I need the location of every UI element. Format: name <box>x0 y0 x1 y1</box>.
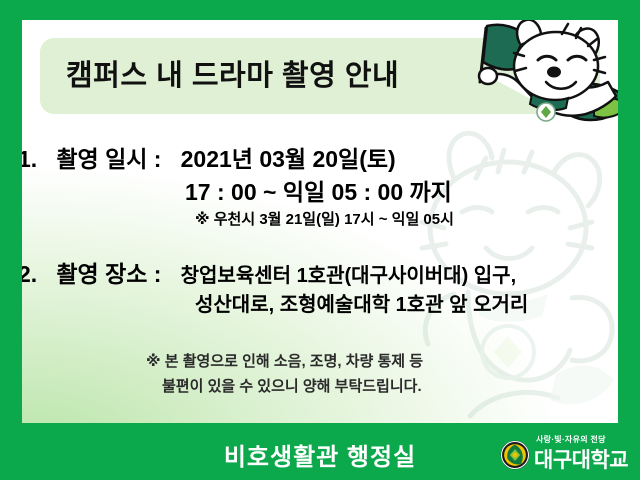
section-2-number: 2. <box>22 261 37 287</box>
notice-line-2: 불편이 있을 수 있으니 양해 부탁드립니다. <box>162 375 422 396</box>
section-1-note: ※ 우천시 3월 21일(일) 17시 ~ 익일 05시 <box>195 208 454 229</box>
notice-line-1: ※ 본 촬영으로 인해 소음, 조명, 차량 통제 등 <box>146 350 423 371</box>
content-panel: 캠퍼스 내 드라마 촬영 안내 <box>22 20 618 423</box>
section-1-label: 촬영 일시 : <box>56 146 161 172</box>
section-2-value-line2: 성산대로, 조형예술대학 1호관 앞 오거리 <box>195 288 528 317</box>
section-1-heading: 1. 촬영 일시 : 2021년 03월 20일(토) <box>22 140 396 174</box>
notice-body: 1. 촬영 일시 : 2021년 03월 20일(토) 17 : 00 ~ 익일… <box>22 20 618 423</box>
section-1-value-line2: 17 : 00 ~ 익일 05 : 00 까지 <box>185 173 452 207</box>
university-emblem-icon <box>500 440 530 470</box>
section-1-number: 1. <box>22 146 37 172</box>
section-1-value-line1: 2021년 03월 20일(토) <box>181 146 396 172</box>
university-brand: 사랑·빛·자유의 전당 대구대학교 <box>500 431 636 473</box>
section-2-label: 촬영 장소 : <box>56 261 161 287</box>
poster-root: 캠퍼스 내 드라마 촬영 안내 <box>0 0 640 480</box>
section-2-heading: 2. 촬영 장소 : 창업보육센터 1호관(대구사이버대) 입구, <box>22 255 516 289</box>
brand-name: 대구대학교 <box>534 444 628 474</box>
footer-bar: 비호생활관 행정실 사랑·빛·자유의 전당 대구대학교 <box>0 423 640 480</box>
section-2-value-line1: 창업보육센터 1호관(대구사이버대) 입구, <box>181 265 517 287</box>
